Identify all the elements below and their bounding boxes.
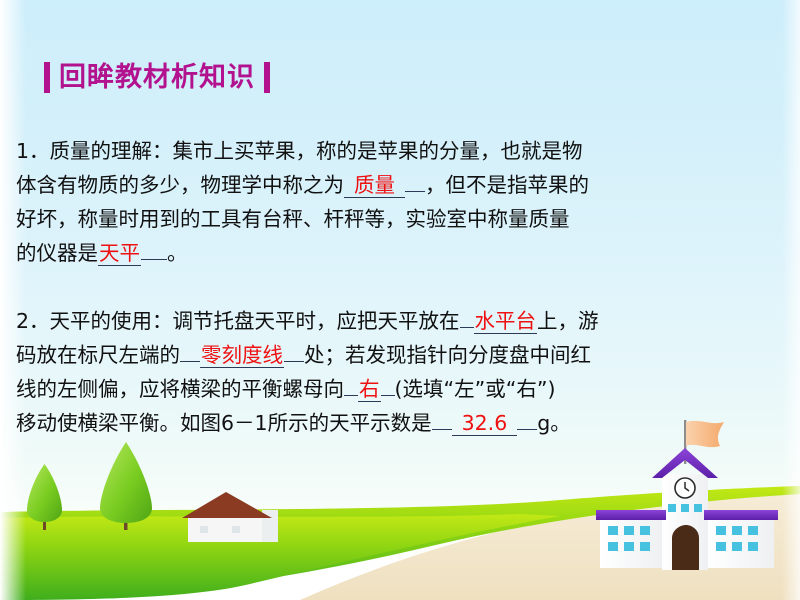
answer-blank-reading: 32.6 (452, 411, 518, 436)
answer-blank-lead-1 (460, 327, 474, 328)
answer-blank-tail-2 (141, 259, 167, 260)
question-2-line-4-text-a: 移动使横梁平衡。如图6－1所示的天平示数是 (16, 411, 432, 435)
question-2-line-4-text-b: g。 (537, 411, 571, 435)
question-1-line-4: 的仪器是天平。 (16, 236, 791, 270)
question-2-line-3-text-a: 线的左侧偏，应将横梁的平衡螺母向 (16, 377, 344, 401)
question-1-block: 1．质量的理解：集市上买苹果，称的是苹果的分量，也就是物 体含有物质的多少，物理… (16, 134, 791, 270)
question-2-line-1: 2．天平的使用：调节托盘天平时，应把天平放在水平台上，游 (16, 304, 791, 338)
question-1-line-2-text-b: ，但不是指苹果的 (425, 173, 589, 197)
answer-blank-lead-2 (180, 361, 200, 362)
question-1-line-2: 体含有物质的多少，物理学中称之为质量，但不是指苹果的 (16, 168, 791, 202)
answer-blank-lead-3 (344, 395, 358, 396)
question-1-line-1: 1．质量的理解：集市上买苹果，称的是苹果的分量，也就是物 (16, 134, 791, 168)
question-1-number: 1． (16, 139, 50, 163)
question-2-line-4: 移动使横梁平衡。如图6－1所示的天平示数是32.6g。 (16, 406, 791, 440)
question-1-line-3: 好坏，称量时用到的工具有台秤、杆秤等，实验室中称量质量 (16, 202, 791, 236)
scenery-illustration (0, 420, 800, 600)
question-2-block: 2．天平的使用：调节托盘天平时，应把天平放在水平台上，游 码放在标尺左端的零刻度… (16, 304, 791, 440)
question-2-line-1-text-b: 上，游 (537, 309, 599, 333)
small-house (182, 492, 278, 542)
answer-blank-tail-3 (284, 361, 304, 362)
page-title-text: 回眸教材析知识 (59, 64, 255, 91)
answer-blank-level-table: 水平台 (474, 309, 538, 334)
question-2-line-2-text-b: 处；若发现指针向分度盘中间红 (304, 343, 591, 367)
answer-blank-zero-mark: 零刻度线 (200, 343, 284, 368)
question-1-line-4-text-b: 。 (167, 241, 188, 265)
question-2-number: 2． (16, 309, 50, 333)
answer-blank-tail-4 (381, 395, 395, 396)
question-2-line-1-text-a: 天平的使用：调节托盘天平时，应把天平放在 (50, 309, 460, 333)
question-1-line-1-text: 质量的理解：集市上买苹果，称的是苹果的分量，也就是物 (50, 139, 583, 163)
question-2-line-3: 线的左侧偏，应将横梁的平衡螺母向右(选填“左”或“右”) (16, 372, 791, 406)
answer-blank-right: 右 (358, 377, 381, 402)
answer-blank-lead-4 (432, 429, 452, 430)
page-title: 回眸教材析知识 (44, 62, 270, 93)
question-1-line-2-text-a: 体含有物质的多少，物理学中称之为 (16, 173, 344, 197)
answer-blank-tail-5 (517, 429, 537, 430)
vertical-bar-icon-right (264, 62, 270, 93)
question-2-line-3-text-b: (选填“左”或“右”) (395, 377, 556, 401)
question-2-line-2: 码放在标尺左端的零刻度线处；若发现指针向分度盘中间红 (16, 338, 791, 372)
question-1-line-4-text-a: 的仪器是 (16, 241, 98, 265)
tree-large (100, 442, 152, 530)
answer-blank-tail (405, 191, 425, 192)
question-1-line-3-text: 好坏，称量时用到的工具有台秤、杆秤等，实验室中称量质量 (16, 207, 570, 231)
slide-canvas: 回眸教材析知识 1．质量的理解：集市上买苹果，称的是苹果的分量，也就是物 体含有… (0, 0, 800, 600)
answer-blank-balance: 天平 (98, 241, 141, 266)
vertical-bar-icon-left (44, 62, 50, 93)
answer-blank-mass: 质量 (344, 173, 405, 198)
clock-icon (675, 478, 695, 498)
question-2-line-2-text-a: 码放在标尺左端的 (16, 343, 180, 367)
